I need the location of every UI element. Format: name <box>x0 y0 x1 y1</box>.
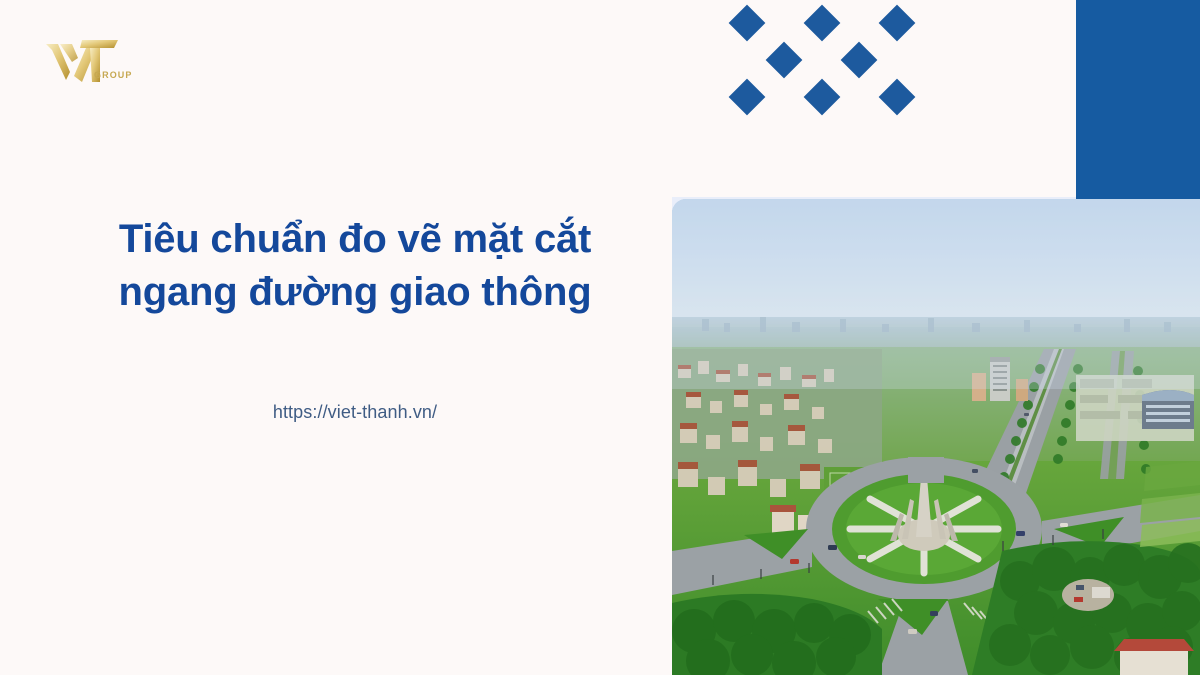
diamond-icon <box>879 5 916 42</box>
vt-group-logo[interactable]: GROUP <box>34 30 146 90</box>
background-left-panel <box>0 0 672 675</box>
page-title: Tiêu chuẩn đo vẽ mặt cắt ngang đường gia… <box>60 213 650 319</box>
diamond-icon <box>804 5 841 42</box>
page-title-line-1: Tiêu chuẩn đo vẽ mặt cắt <box>60 213 650 266</box>
hero-photo <box>672 199 1200 675</box>
site-url[interactable]: https://viet-thanh.vn/ <box>60 402 650 423</box>
diamond-icon <box>804 79 841 116</box>
page-title-line-2: ngang đường giao thông <box>60 266 650 319</box>
svg-text:GROUP: GROUP <box>94 70 133 80</box>
diamond-icon <box>729 79 766 116</box>
diamond-icon <box>879 79 916 116</box>
diamond-icon <box>729 5 766 42</box>
diamond-pattern <box>726 2 926 114</box>
slide-canvas: GROUP <box>0 0 1200 675</box>
diamond-icon <box>766 42 803 79</box>
diamond-icon <box>841 42 878 79</box>
accent-block <box>1076 0 1200 202</box>
